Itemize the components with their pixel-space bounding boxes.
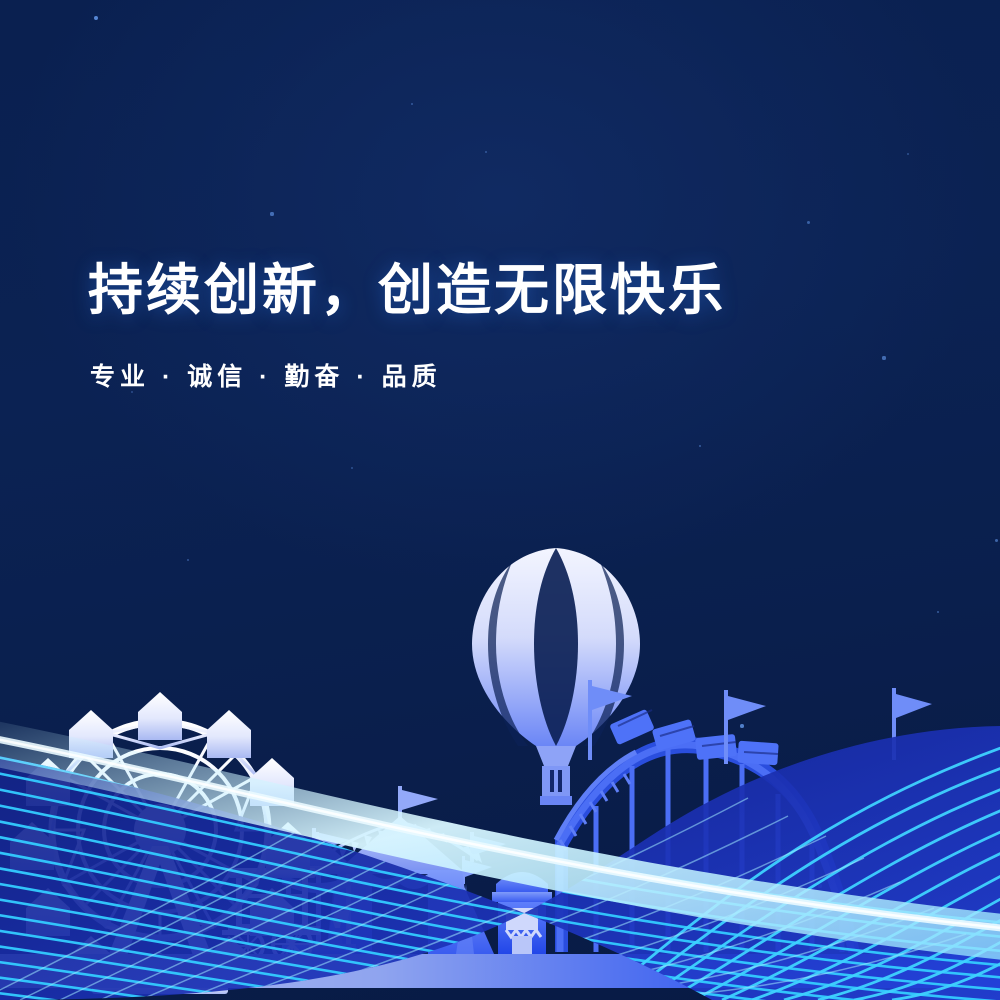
star-dot xyxy=(807,221,810,224)
page-title: 持续创新，创造无限快乐 xyxy=(88,258,908,323)
tagline: 专业 · 诚信 · 勤奋 · 品质 xyxy=(90,357,908,393)
amusement-park-skyline xyxy=(0,540,1000,1000)
star-dot xyxy=(270,212,273,215)
star-dot xyxy=(485,151,488,154)
star-dot xyxy=(351,467,353,469)
copy-block: 持续创新，创造无限快乐 专业 · 诚信 · 勤奋 · 品质 xyxy=(88,258,908,393)
ticket-booth-icon xyxy=(492,872,552,954)
star-dot xyxy=(411,103,414,106)
roller-coaster-icon xyxy=(555,680,932,952)
promo-banner: 持续创新，创造无限快乐 专业 · 诚信 · 勤奋 · 品质 xyxy=(0,0,1000,1000)
star-dot xyxy=(907,153,909,155)
star-dot xyxy=(94,16,98,20)
ground-strip xyxy=(0,954,1000,988)
star-dot xyxy=(699,445,702,448)
ferris-wheel-icon xyxy=(10,692,310,994)
